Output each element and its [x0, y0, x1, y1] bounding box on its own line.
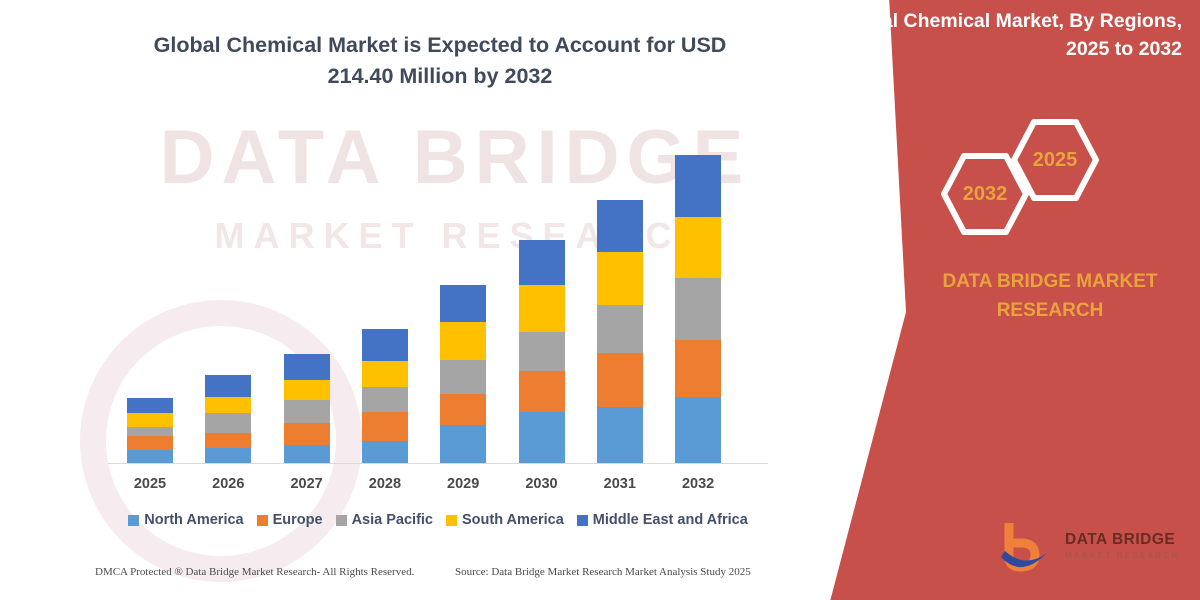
legend-swatch-icon [577, 515, 588, 526]
legend-swatch-icon [128, 515, 139, 526]
logo-subtitle: MARKET RESEARCH [1065, 551, 1179, 560]
bar-2032 [675, 155, 721, 463]
bar-segment [362, 329, 408, 361]
x-axis-label-2029: 2029 [423, 476, 503, 492]
logo-mark-icon [995, 523, 1057, 579]
x-axis-label-2025: 2025 [110, 476, 190, 492]
bar-segment [205, 397, 251, 413]
hex-badge-2025-label: 2025 [1033, 149, 1078, 172]
footer-source-note: Source: Data Bridge Market Research Mark… [455, 566, 751, 578]
legend-swatch-icon [257, 515, 268, 526]
bar-segment [284, 380, 330, 400]
bar-segment [440, 425, 486, 463]
data-bridge-logo: DATA BRIDGE MARKET RESEARCH [995, 523, 1185, 581]
x-axis-label-2027: 2027 [267, 476, 347, 492]
bar-segment [362, 441, 408, 463]
x-axis-label-2032: 2032 [658, 476, 738, 492]
logo-name: DATA BRIDGE [1065, 531, 1175, 549]
footer: DMCA Protected ® Data Bridge Market Rese… [95, 566, 795, 578]
infographic-canvas: DATA BRIDGE MARKET RESEARCH Global Chemi… [0, 0, 1200, 600]
footer-dmca-notice: DMCA Protected ® Data Bridge Market Rese… [95, 566, 435, 578]
bar-segment [205, 375, 251, 397]
legend-swatch-icon [336, 515, 347, 526]
x-axis-label-2028: 2028 [345, 476, 425, 492]
bar-segment [362, 361, 408, 387]
bar-segment [675, 278, 721, 340]
brand-panel-title: Global Chemical Market, By Regions, 2025… [832, 8, 1182, 63]
legend-label: Europe [273, 512, 323, 528]
bar-segment [362, 412, 408, 441]
bar-segment [362, 387, 408, 412]
bar-segment [597, 407, 643, 463]
chart-title: Global Chemical Market is Expected to Ac… [120, 30, 760, 92]
bar-segment [205, 433, 251, 448]
bar-segment [597, 353, 643, 407]
bar-segment [519, 371, 565, 412]
bar-segment [127, 398, 173, 413]
bar-segment [440, 322, 486, 360]
bar-segment [597, 200, 643, 252]
bar-segment [519, 412, 565, 463]
x-axis-label-2031: 2031 [580, 476, 660, 492]
bar-segment [284, 354, 330, 380]
legend-label: Asia Pacific [352, 512, 433, 528]
bar-segment [284, 423, 330, 445]
bar-2027 [284, 354, 330, 463]
legend-label: North America [144, 512, 243, 528]
legend-item-north-america[interactable]: North America [128, 512, 243, 528]
legend-item-south-america[interactable]: South America [446, 512, 564, 528]
bar-2031 [597, 200, 643, 463]
bar-segment [440, 394, 486, 425]
bar-2025 [127, 398, 173, 463]
bar-segment [284, 445, 330, 463]
bar-segment [519, 332, 565, 371]
x-axis-label-2026: 2026 [188, 476, 268, 492]
legend-item-europe[interactable]: Europe [257, 512, 323, 528]
bar-segment [127, 413, 173, 427]
bar-segment [205, 413, 251, 433]
bar-segment [519, 240, 565, 285]
chart-panel: DATA BRIDGE MARKET RESEARCH Global Chemi… [0, 0, 880, 600]
bar-segment [440, 285, 486, 322]
bar-segment [284, 400, 330, 423]
bar-segment [597, 305, 643, 353]
legend-label: Middle East and Africa [593, 512, 748, 528]
bar-2028 [362, 329, 408, 463]
bar-segment [440, 360, 486, 394]
bar-segment [127, 450, 173, 463]
legend-item-asia-pacific[interactable]: Asia Pacific [336, 512, 433, 528]
chart-legend: North AmericaEuropeAsia PacificSouth Ame… [108, 512, 768, 528]
hex-badge-2032-label: 2032 [963, 183, 1008, 206]
bar-2030 [519, 240, 565, 463]
bar-segment [205, 448, 251, 463]
hex-badge-2032: 2032 [940, 152, 1030, 236]
bar-segment [519, 285, 565, 332]
x-axis-line [108, 463, 768, 464]
bar-segment [675, 397, 721, 463]
x-axis-label-2030: 2030 [502, 476, 582, 492]
brand-name-text: DATA BRIDGE MARKET RESEARCH [930, 268, 1170, 325]
bar-segment [127, 436, 173, 450]
legend-label: South America [462, 512, 564, 528]
legend-item-middle-east-and-africa[interactable]: Middle East and Africa [577, 512, 748, 528]
bar-segment [127, 427, 173, 436]
bar-segment [597, 252, 643, 305]
bar-segment [675, 217, 721, 278]
bar-segment [675, 155, 721, 217]
bar-2029 [440, 285, 486, 463]
bar-2026 [205, 375, 251, 463]
legend-swatch-icon [446, 515, 457, 526]
bar-segment [675, 340, 721, 397]
